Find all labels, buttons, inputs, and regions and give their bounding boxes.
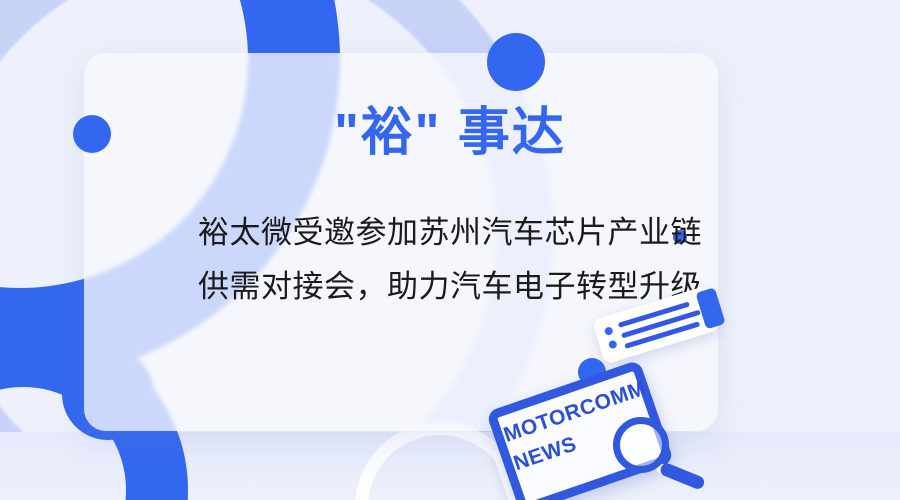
subtitle-line-1: 裕太微受邀参加苏州汽车芯片产业链 (0, 214, 900, 252)
banner-canvas: "裕" 事达 裕太微受邀参加苏州汽车芯片产业链 供需对接会，助力汽车电子转型升级… (0, 0, 900, 500)
subtitle-line-2: 供需对接会，助力汽车电子转型升级 (0, 268, 900, 306)
magnifier-icon (613, 417, 669, 473)
magnifier-lens (613, 417, 669, 473)
page-title: "裕" 事达 (0, 104, 900, 162)
accent-dot-top (487, 33, 545, 91)
